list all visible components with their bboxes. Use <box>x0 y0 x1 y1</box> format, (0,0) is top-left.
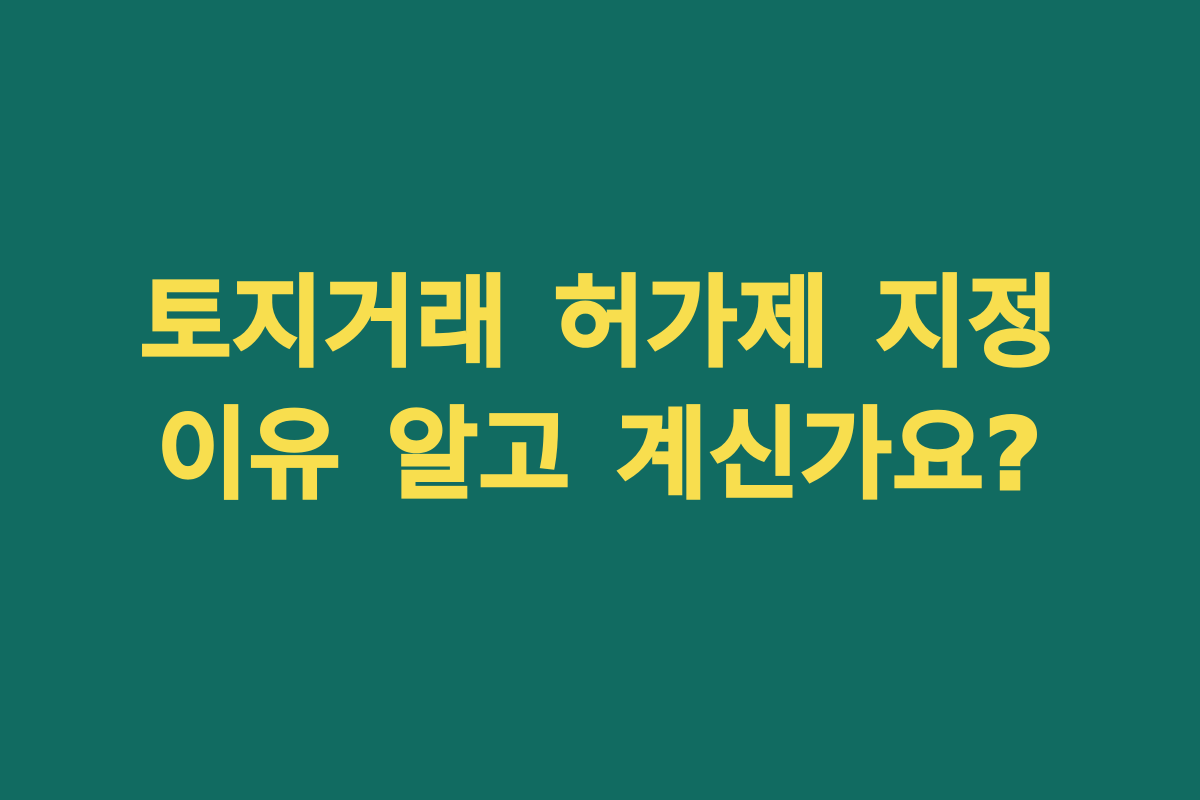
text-banner: 토지거래 허가제 지정 이유 알고 계신가요? <box>0 0 1200 800</box>
banner-headline: 토지거래 허가제 지정 이유 알고 계신가요? <box>95 258 1105 522</box>
